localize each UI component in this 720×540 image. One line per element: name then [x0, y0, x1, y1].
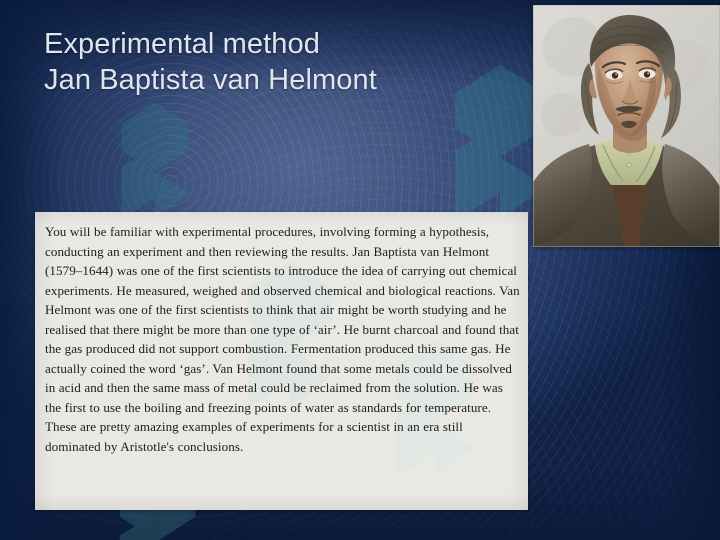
body-paragraph: You will be familiar with experimental p… — [45, 222, 520, 457]
portrait-illustration — [533, 5, 720, 247]
title-line-1: Experimental method — [44, 26, 514, 62]
scanned-text-box: You will be familiar with experimental p… — [35, 212, 528, 510]
slide-canvas: Experimental method Jan Baptista van Hel… — [0, 0, 720, 540]
scanned-text-content: You will be familiar with experimental p… — [35, 212, 528, 465]
van-helmont-portrait-image — [533, 5, 720, 247]
title-line-2: Jan Baptista van Helmont — [44, 62, 514, 98]
slide-title: Experimental method Jan Baptista van Hel… — [44, 26, 514, 98]
